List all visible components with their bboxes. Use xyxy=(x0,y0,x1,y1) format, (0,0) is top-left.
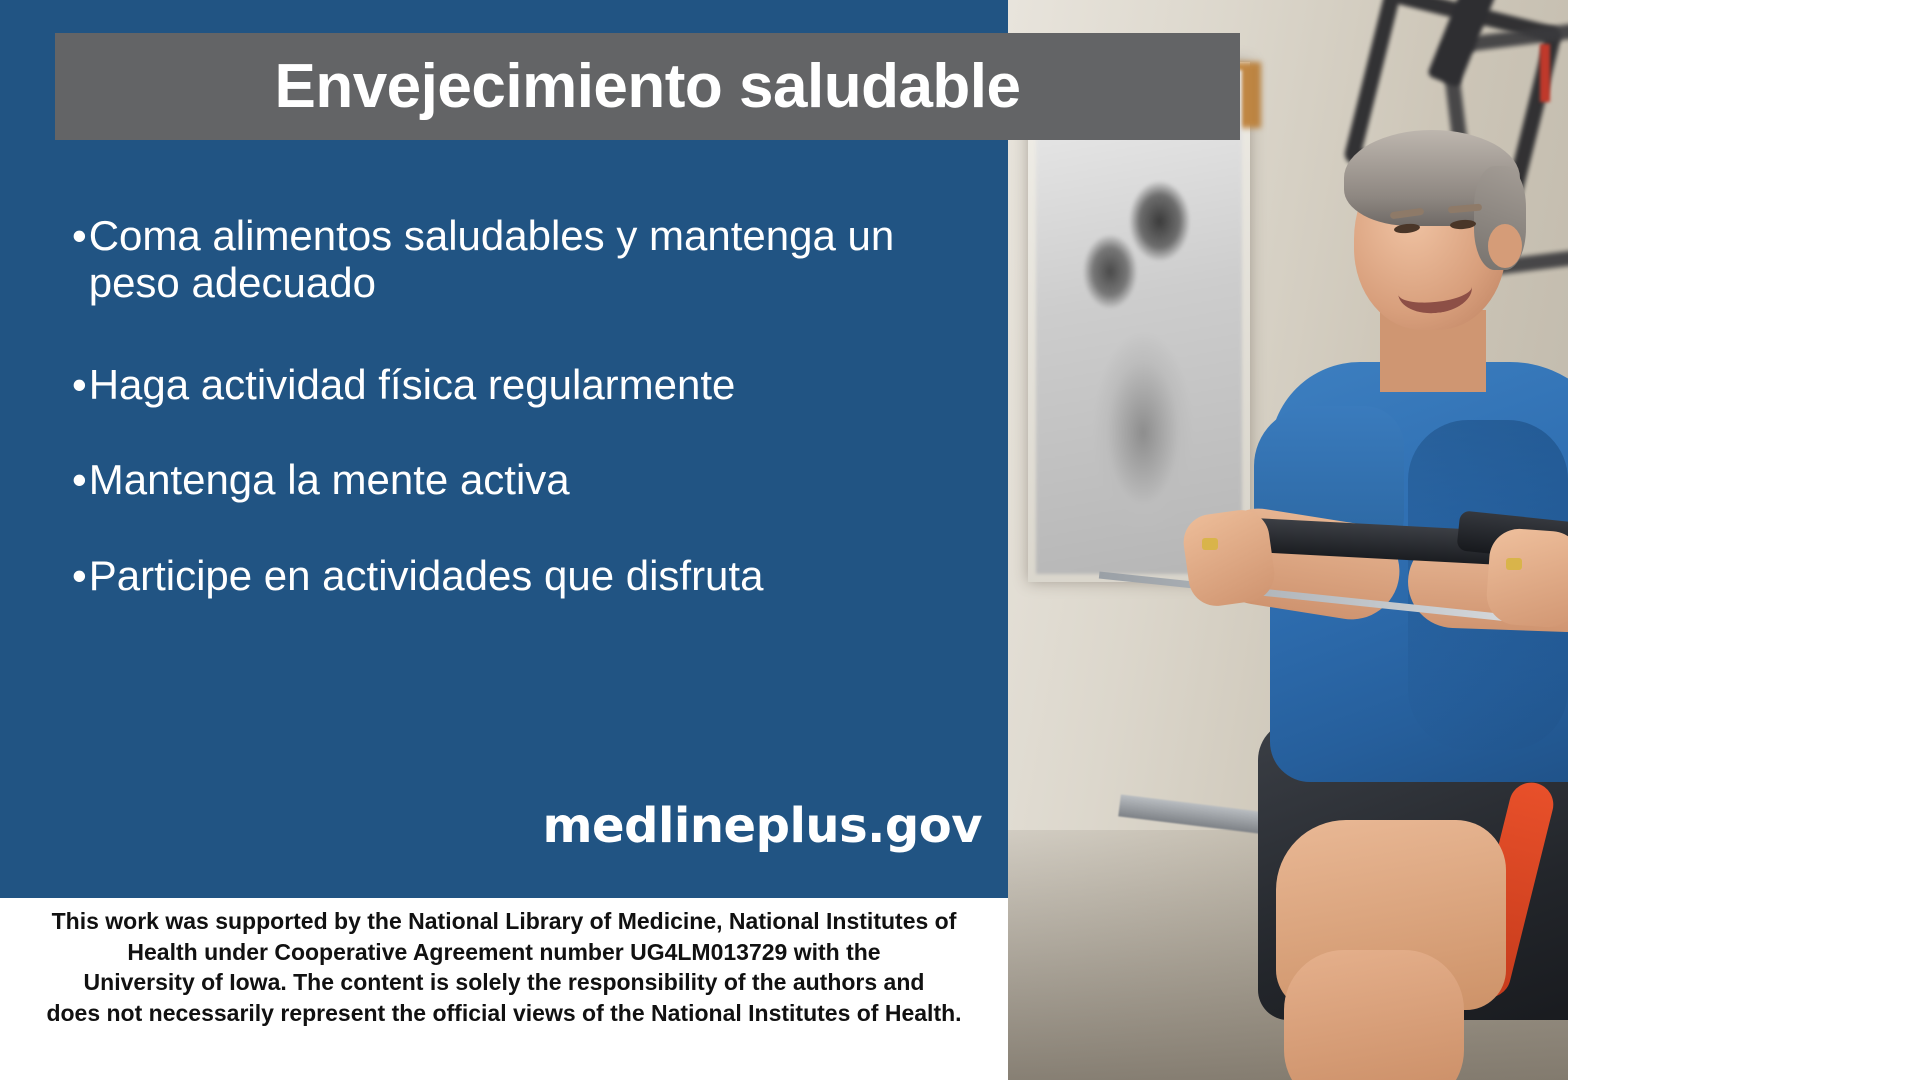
bullet-marker-icon: • xyxy=(72,361,87,408)
man-ear xyxy=(1488,224,1522,268)
man-hand-left xyxy=(1180,506,1278,609)
title-banner: Envejecimiento saludable xyxy=(55,33,1240,140)
website-url[interactable]: medlineplus.gov xyxy=(0,798,982,854)
attribution-line-4: does not necessarily represent the offic… xyxy=(30,998,978,1029)
man-ring-left xyxy=(1202,538,1218,550)
man-knee xyxy=(1284,950,1464,1080)
list-item-label: Haga actividad física regularmente xyxy=(89,361,972,408)
list-item: • Mantenga la mente activa xyxy=(72,456,972,503)
list-item-label: Mantenga la mente activa xyxy=(89,456,972,503)
attribution-line-2: Health under Cooperative Agreement numbe… xyxy=(30,937,978,968)
list-item: • Participe en actividades que disfruta xyxy=(72,552,972,599)
funding-attribution: This work was supported by the National … xyxy=(0,906,1008,1028)
man-exercising xyxy=(1158,120,1568,1080)
gym-photo xyxy=(1008,0,1568,1080)
bullet-marker-icon: • xyxy=(72,212,87,259)
wall-red-pipe xyxy=(1540,44,1550,102)
list-item-label: Participe en actividades que disfruta xyxy=(89,552,972,599)
poster-slide: Envejecimiento saludable • Coma alimento… xyxy=(0,0,1568,1080)
list-item: • Haga actividad física regularmente xyxy=(72,361,972,408)
bullet-marker-icon: • xyxy=(72,456,87,503)
page-title: Envejecimiento saludable xyxy=(274,56,1020,118)
man-hand-right xyxy=(1485,527,1568,629)
list-item: • Coma alimentos saludables y mantenga u… xyxy=(72,212,972,307)
man-ring-right xyxy=(1506,558,1522,570)
attribution-line-3: University of Iowa. The content is solel… xyxy=(30,967,978,998)
tips-list: • Coma alimentos saludables y mantenga u… xyxy=(72,212,972,645)
list-item-label: Coma alimentos saludables y mantenga un … xyxy=(89,212,972,307)
attribution-line-1: This work was supported by the National … xyxy=(30,906,978,937)
bullet-marker-icon: • xyxy=(72,552,87,599)
